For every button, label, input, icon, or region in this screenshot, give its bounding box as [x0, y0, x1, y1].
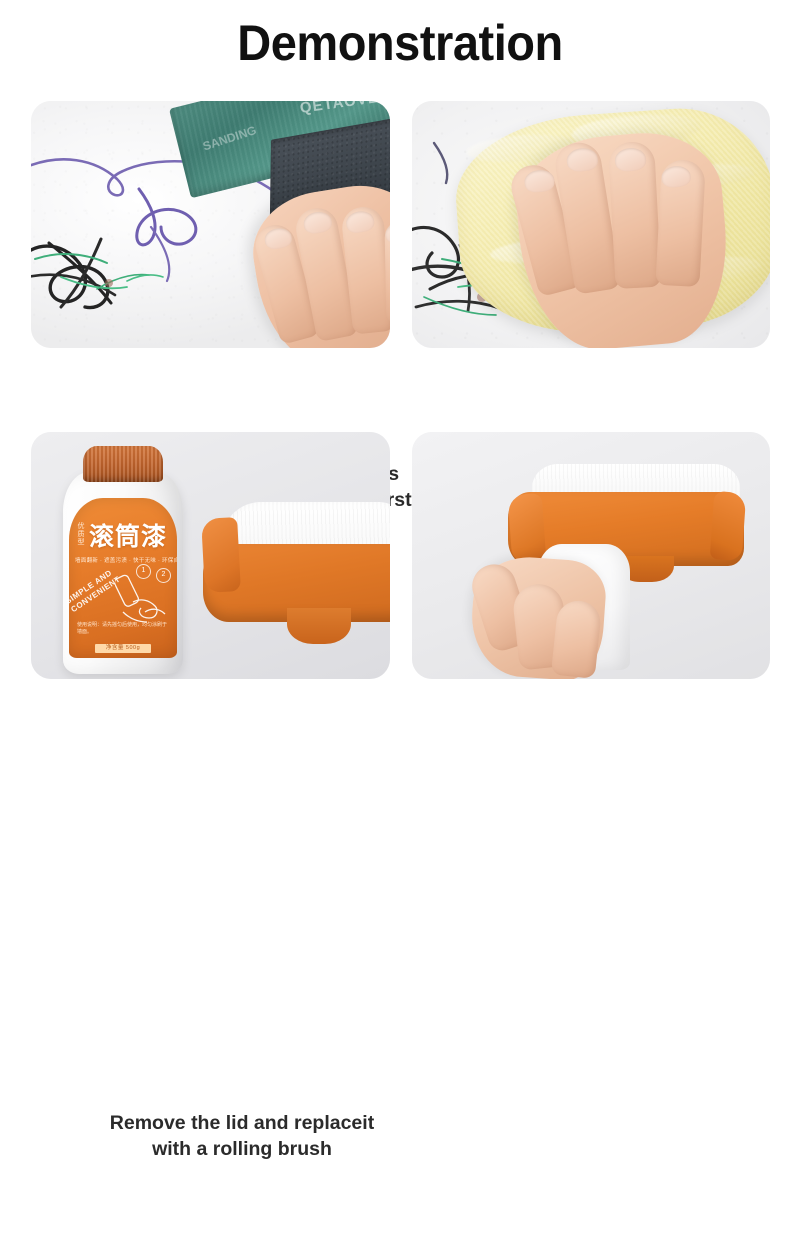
bottle-cap-icon	[83, 446, 163, 482]
sanding-block-secondary-label: SANDING	[201, 123, 258, 153]
bottle-label-footer-text: 使用说明：请先摇匀后使用，均匀涂刷于墙面。	[77, 622, 169, 636]
panel-replace-lid: 优质型 滚筒漆 墙面翻新 · 遮盖污渍 · 快干无味 · 环保自刷 SIMPLE…	[31, 432, 390, 679]
panel-roll-the-wall: Roll the head down, and squeeze the bott…	[412, 432, 770, 679]
panel-keep-dry: Keep dry and wall protected	[412, 101, 770, 348]
panel-replace-lid-caption: Remove the lid and replaceit with a roll…	[53, 1110, 431, 1162]
panel-polish-wall-photo: SANDING QETAOVLED	[31, 101, 390, 348]
bottle-label-headline: 滚筒漆	[89, 524, 167, 550]
bottle-label-side-text: 优质型	[75, 523, 87, 547]
bottle-label-badge-two: 2	[156, 568, 171, 583]
page-title: Demonstration	[24, 14, 776, 72]
panel-replace-lid-photo: 优质型 滚筒漆 墙面翻新 · 遮盖污渍 · 快干无味 · 环保自刷 SIMPLE…	[31, 432, 390, 679]
roller-left-arm-icon	[508, 493, 547, 563]
panel-keep-dry-photo	[412, 101, 770, 348]
roller-right-arm-icon	[710, 491, 747, 561]
paint-bottle-icon: 优质型 滚筒漆 墙面翻新 · 遮盖污渍 · 快干无味 · 环保自刷 SIMPLE…	[59, 446, 187, 674]
bottle-label-weight: 净含量 500g	[95, 644, 151, 653]
roller-neck-icon	[287, 608, 351, 644]
panel-roll-the-wall-photo	[412, 432, 770, 679]
panel-polish-wall: SANDING QETAOVLED When the graffiti colo…	[31, 101, 390, 348]
roller-brush-head-icon	[203, 502, 390, 662]
bottle-label: 优质型 滚筒漆 墙面翻新 · 遮盖污渍 · 快干无味 · 环保自刷 SIMPLE…	[69, 498, 177, 658]
bottle-label-badge-one: 1	[136, 564, 151, 579]
sanding-block-brand-label: QETAOVLED	[299, 101, 390, 117]
roller-arm-icon	[201, 517, 241, 593]
hand-icon	[468, 554, 608, 679]
